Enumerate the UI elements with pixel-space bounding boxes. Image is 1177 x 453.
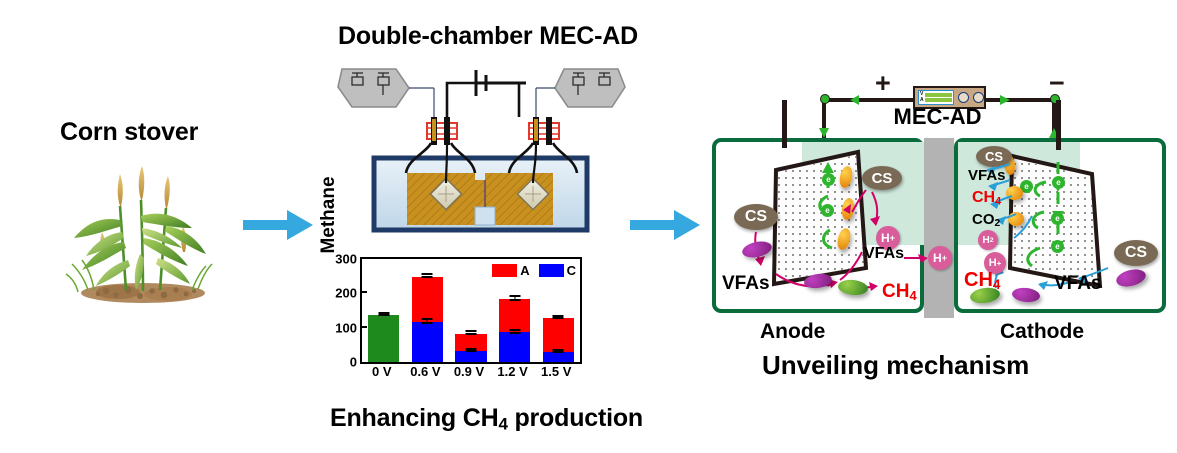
chart-caption-prefix: Enhancing CH xyxy=(330,404,498,432)
psu-current-bar xyxy=(925,98,952,102)
corn-stover-title: Corn stover xyxy=(60,118,198,147)
anode-chamber-label: Anode xyxy=(760,320,825,344)
chart-error-cap xyxy=(553,351,564,353)
chart-y-tick-mark xyxy=(362,326,367,328)
mec-ad-device-label: MEC-AD xyxy=(700,104,1175,130)
chart-bar xyxy=(543,259,574,362)
chart-error-cap xyxy=(422,322,433,324)
chart-error-cap xyxy=(465,333,476,335)
psu-knob-1[interactable] xyxy=(958,92,969,103)
chart-bar-segment-c xyxy=(455,351,486,362)
chart-y-tick-mark xyxy=(362,291,367,293)
two-bottle-mec-reactor-schematic xyxy=(330,55,630,245)
chart-caption-sub: 4 xyxy=(498,415,507,434)
chart-error-cap xyxy=(553,349,564,351)
chart-error-cap xyxy=(465,350,476,352)
chart-x-tick: 1.2 V xyxy=(497,364,527,379)
chart-bar xyxy=(368,259,399,362)
chart-error-cap xyxy=(509,332,520,334)
cathode-chamber-label: Cathode xyxy=(1000,320,1084,344)
cathode-vfa-outer-label: VFAs xyxy=(1054,274,1102,293)
chart-y-tick: 0 xyxy=(350,355,357,370)
chart-caption-suffix: production xyxy=(508,404,643,432)
corn-stover-plant-photo xyxy=(48,160,238,305)
psu-display: V A xyxy=(918,90,954,105)
chart-error-cap xyxy=(422,273,433,275)
cathode-methane-inner-label: CH4 xyxy=(972,190,1001,207)
chart-error-cap xyxy=(509,295,520,297)
cathode-chamber: e e e e CS CS xyxy=(954,138,1166,313)
chart-plot-area: A C 0100200300 xyxy=(360,257,582,364)
chart-error-cap xyxy=(465,330,476,332)
anode-vfa-outer-label: VFAs xyxy=(722,274,770,293)
anode-current-collector-stem xyxy=(782,100,787,148)
chart-bar-segment-c xyxy=(412,322,443,362)
chart-bar-segment-c xyxy=(543,352,574,362)
chart-bar-segment-g xyxy=(368,315,399,362)
cathode-vfa-inner-label: VFAs xyxy=(968,168,1006,183)
chart-error-cap xyxy=(378,312,389,314)
flow-arrow-2 xyxy=(630,208,702,242)
chart-x-tick: 0.6 V xyxy=(410,364,440,379)
psu-voltage-bar xyxy=(925,93,952,97)
chart-error-cap xyxy=(553,315,564,317)
double-chamber-mec-ad-title: Double-chamber MEC-AD xyxy=(338,22,638,51)
psu-knob-2[interactable] xyxy=(973,92,984,103)
psu-current-letter: A xyxy=(920,98,924,103)
cathode-co2-label: CO2 xyxy=(972,212,1000,229)
anode-methane-label: CH4 xyxy=(882,282,917,303)
chart-error-cap xyxy=(422,276,433,278)
chart-bar-segment-a xyxy=(412,277,443,322)
chart-bar-segment-a xyxy=(499,299,530,332)
chart-x-tick: 0.9 V xyxy=(454,364,484,379)
chart-bar xyxy=(455,259,486,362)
chart-error-cap xyxy=(378,314,389,316)
chart-x-tick: 0 V xyxy=(372,364,392,379)
chart-caption: Enhancing CH4 production xyxy=(330,404,643,435)
anode-vfa-inner-label: VFAs xyxy=(864,246,904,262)
chart-y-tick: 100 xyxy=(335,320,357,335)
anode-polarity-plus-sign: + xyxy=(875,70,891,97)
cathode-polarity-minus-sign: − xyxy=(1049,70,1065,97)
mechanism-diagram: + − V A MEC-AD xyxy=(700,72,1175,392)
cathode-hydrogen-molecule: H2 xyxy=(978,230,998,250)
chart-error-cap xyxy=(553,317,564,319)
chart-y-tick: 300 xyxy=(335,252,357,267)
chart-error-cap xyxy=(422,318,433,320)
ion-exchange-membrane xyxy=(924,138,954,318)
chart-error-cap xyxy=(509,299,520,301)
chart-x-tick: 1.5 V xyxy=(541,364,571,379)
chart-bar xyxy=(412,259,443,362)
chart-bar-segment-c xyxy=(499,332,530,362)
methane-bar-chart: Methane A C 0100200300 0 V0.6 V0.9 V1.2 … xyxy=(322,252,592,392)
chart-bar xyxy=(499,259,530,362)
mechanism-caption: Unveiling mechanism xyxy=(762,350,1029,381)
chart-y-tick: 200 xyxy=(335,286,357,301)
chart-error-cap xyxy=(509,329,520,331)
anode-chamber: e e CS CS H+ xyxy=(712,138,924,313)
chart-bar-segment-a xyxy=(543,318,574,351)
flow-arrow-1 xyxy=(243,208,315,242)
chart-error-cap xyxy=(465,348,476,350)
